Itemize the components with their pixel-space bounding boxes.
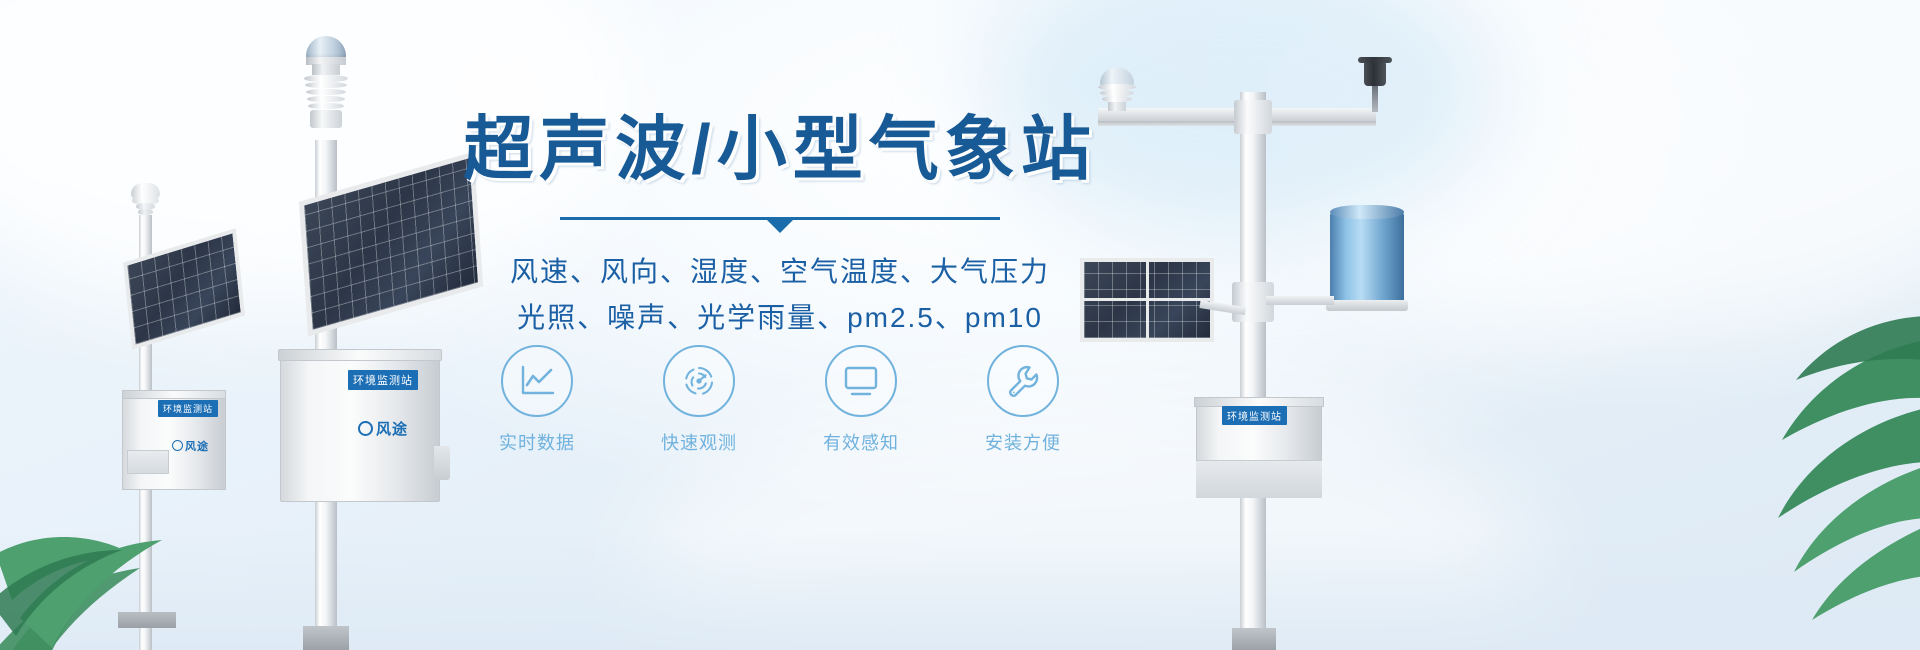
subtitle-line-1: 风速、风向、湿度、空气温度、大气压力 [420, 249, 1140, 295]
background-haze [1220, 0, 1920, 340]
headline-block: 超声波/小型气象站 风速、风向、湿度、空气温度、大气压力 光照、噪声、光学雨量、… [420, 108, 1140, 341]
subtitle-line-2: 光照、噪声、光学雨量、pm2.5、pm10 [420, 295, 1140, 341]
feature-label: 快速观测 [647, 429, 751, 455]
radar-scan-icon [663, 345, 735, 417]
monitor-icon [825, 345, 897, 417]
page-title: 超声波/小型气象站 [420, 108, 1140, 191]
brand-logo-middle: 风途 [358, 418, 408, 439]
line-chart-icon [501, 345, 573, 417]
feature-item-realtime-data[interactable]: 实时数据 [485, 345, 589, 455]
banner-root: 环境监测站 风途 环境监测站 风途 [0, 0, 1920, 650]
ground-haze [0, 530, 1920, 650]
feature-list: 实时数据 快速观测 [420, 345, 1140, 455]
feature-item-fast-observation[interactable]: 快速观测 [647, 345, 751, 455]
station-label-middle: 环境监测站 [348, 370, 418, 390]
feature-label: 实时数据 [485, 429, 589, 455]
station-label-right: 环境监测站 [1222, 406, 1287, 425]
feature-label: 安装方便 [971, 429, 1075, 455]
station-label-left: 环境监测站 [158, 400, 218, 417]
feature-item-easy-install[interactable]: 安装方便 [971, 345, 1075, 455]
brand-logo-left: 风途 [172, 438, 209, 454]
feature-label: 有效感知 [809, 429, 913, 455]
wrench-icon [987, 345, 1059, 417]
divider-triangle-icon [767, 220, 793, 233]
title-divider [560, 217, 1000, 235]
feature-item-effective-sensing[interactable]: 有效感知 [809, 345, 913, 455]
